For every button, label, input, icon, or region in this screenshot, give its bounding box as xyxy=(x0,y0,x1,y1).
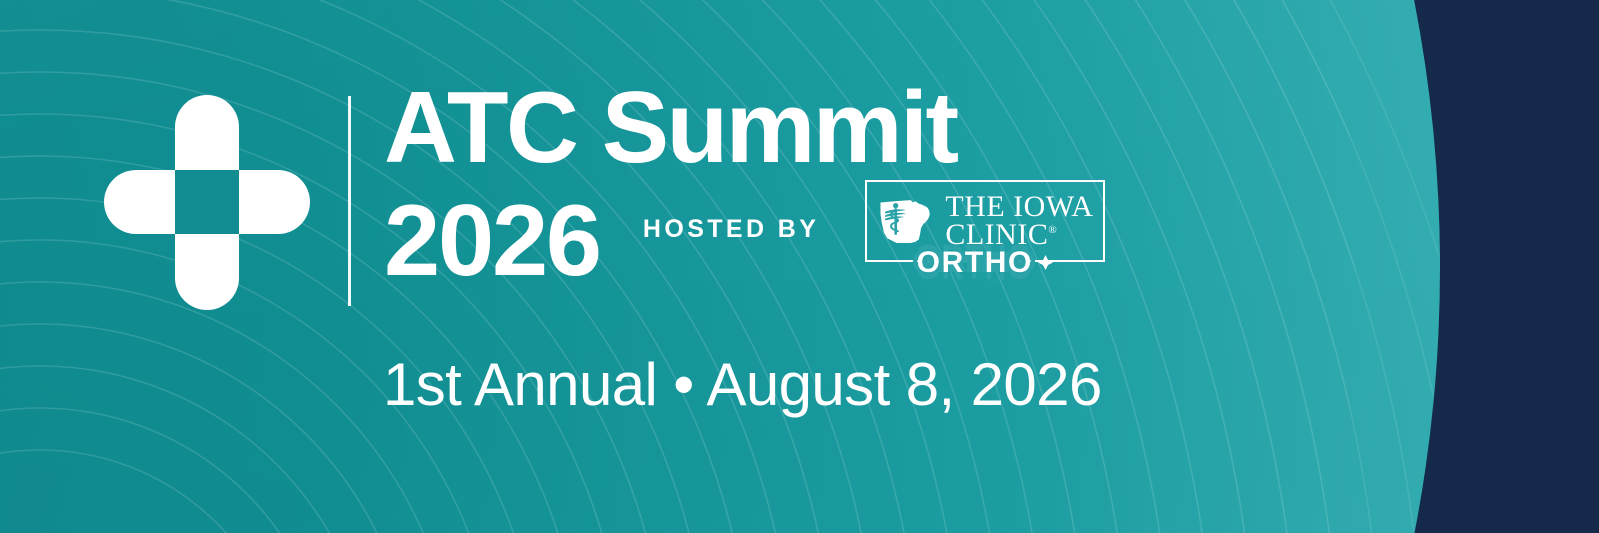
atc-summit-banner: ATC Summit 2026 HOSTED BY xyxy=(0,0,1599,533)
sponsor-sub-brand-strip: ORTHO xyxy=(865,245,1105,281)
hosted-by-row: HOSTED BY xyxy=(643,180,1105,292)
vertical-divider xyxy=(348,96,351,306)
event-year: 2026 xyxy=(384,191,600,292)
event-title-line1: ATC Summit xyxy=(384,80,1105,177)
event-subtitle: 1st Annual • August 8, 2026 xyxy=(383,350,1102,419)
title-second-row: 2026 HOSTED BY xyxy=(384,180,1105,292)
sponsor-name: THE IOWA CLINIC® xyxy=(945,193,1093,251)
title-block: ATC Summit 2026 HOSTED BY xyxy=(384,80,1105,292)
banner-content: ATC Summit 2026 HOSTED BY xyxy=(0,0,1599,533)
registered-trademark-icon: ® xyxy=(1048,224,1056,236)
iowa-caduceus-icon xyxy=(877,192,935,250)
hosted-by-label: HOSTED BY xyxy=(643,215,819,244)
sponsor-logo-the-iowa-clinic-ortho[interactable]: THE IOWA CLINIC® ORTHO xyxy=(865,180,1105,280)
sponsor-name-line1: THE IOWA xyxy=(945,193,1093,222)
sponsor-sub-brand-label: ORTHO xyxy=(917,248,1033,278)
cross-center-knockout xyxy=(175,170,239,234)
atc-plus-cross-mark xyxy=(104,95,310,310)
ortho-plus-icon xyxy=(1037,254,1054,271)
sponsor-sub-brand: ORTHO xyxy=(908,248,1063,278)
